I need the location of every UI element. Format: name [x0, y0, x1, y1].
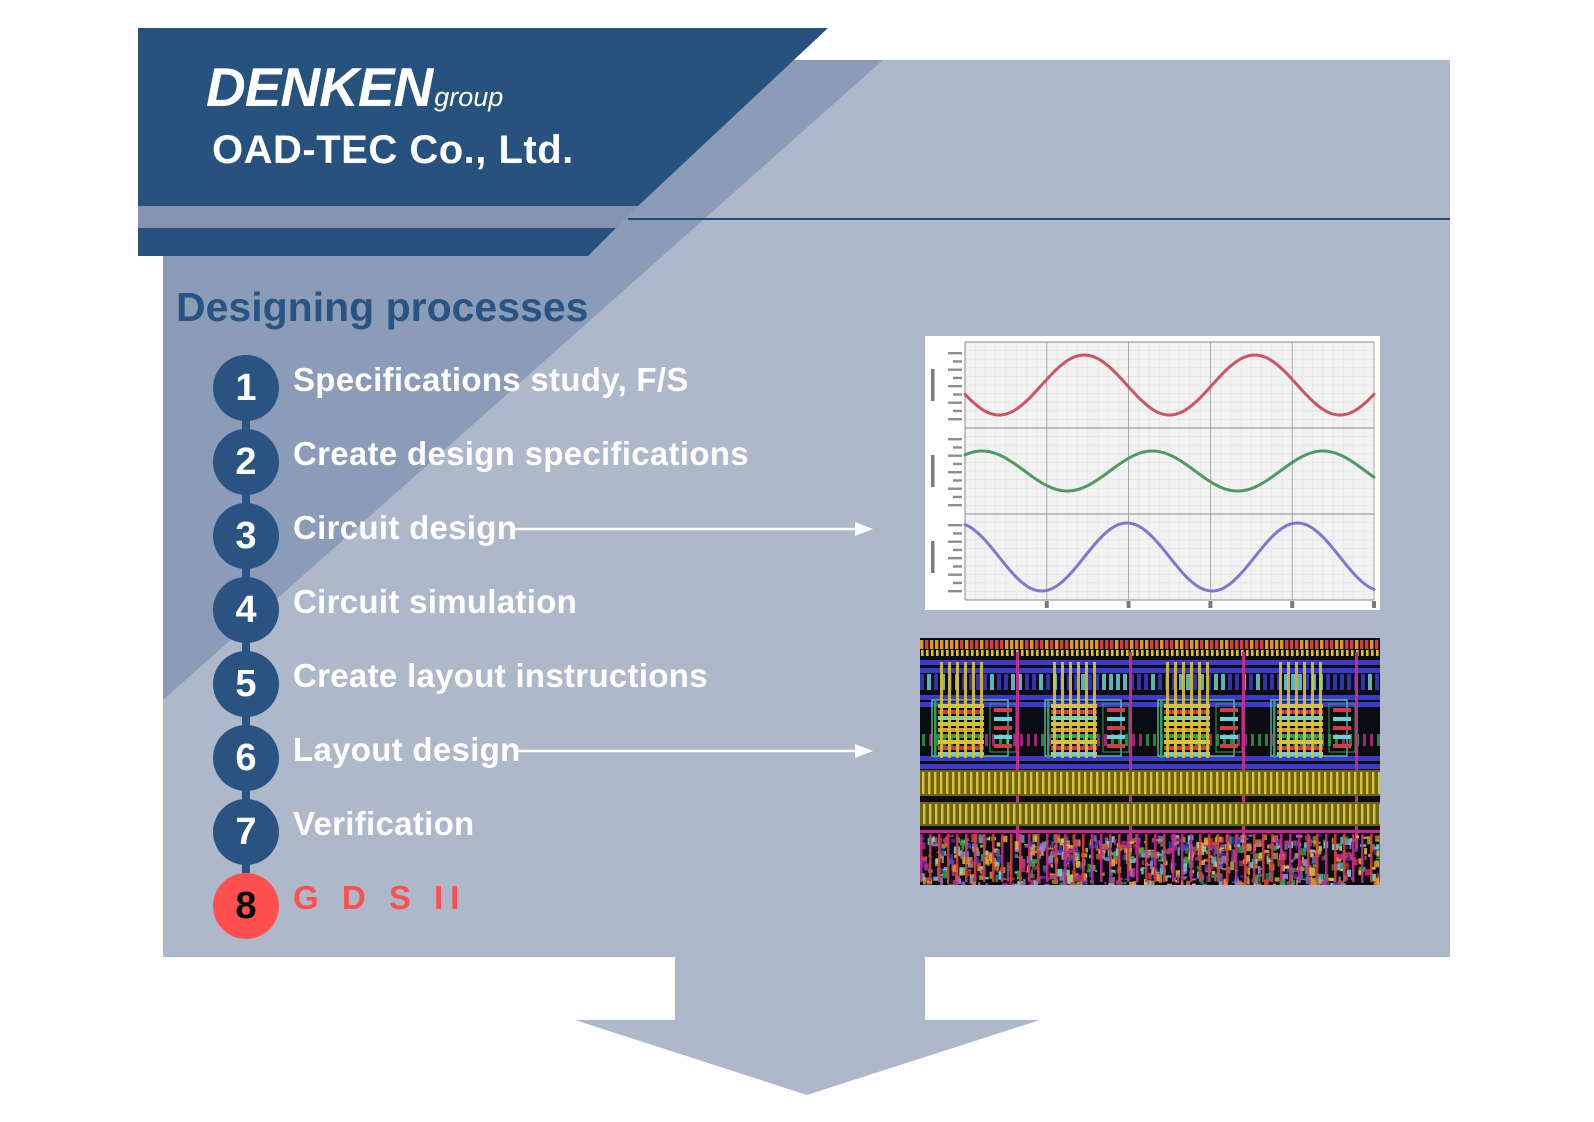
process-down-arrow: [575, 950, 1040, 1095]
step-number-badge: 2: [213, 429, 279, 495]
step-number-badge: 5: [213, 651, 279, 717]
step-label: Circuit design: [293, 509, 517, 547]
process-step[interactable]: 2 Create design specifications: [213, 429, 913, 503]
step-number-badge: 6: [213, 725, 279, 791]
header-divider-rule: [628, 218, 1450, 220]
waveform-figure: [925, 336, 1380, 610]
step-label: Specifications study, F/S: [293, 361, 689, 399]
pointer-arrow-to-layout: [518, 744, 873, 758]
step-label: Layout design: [293, 731, 521, 769]
process-step[interactable]: 7 Verification: [213, 799, 913, 873]
process-step[interactable]: 4 Circuit simulation: [213, 577, 913, 651]
step-label: Create design specifications: [293, 435, 749, 473]
layout-figure: [920, 638, 1380, 885]
step-label-gdsii: G D S II: [293, 879, 466, 917]
step-number-badge: 7: [213, 799, 279, 865]
process-step[interactable]: 8 G D S II: [213, 873, 913, 947]
process-step-list: 1 Specifications study, F/S 2 Create des…: [213, 355, 913, 947]
slide-root: DENKENgroup OAD-TEC Co., Ltd. Designing …: [0, 0, 1594, 1122]
page-title: Designing processes: [176, 284, 588, 331]
header-banner: [138, 28, 838, 278]
process-step[interactable]: 3 Circuit design: [213, 503, 913, 577]
step-label: Verification: [293, 805, 475, 843]
process-step[interactable]: 1 Specifications study, F/S: [213, 355, 913, 429]
step-number-badge-highlight: 8: [213, 873, 279, 939]
step-number-badge: 4: [213, 577, 279, 643]
pointer-arrow-to-waveform: [513, 522, 873, 536]
step-label: Circuit simulation: [293, 583, 577, 621]
step-label: Create layout instructions: [293, 657, 708, 695]
step-number-badge: 1: [213, 355, 279, 421]
step-number-badge: 3: [213, 503, 279, 569]
process-step[interactable]: 5 Create layout instructions: [213, 651, 913, 725]
process-step[interactable]: 6 Layout design: [213, 725, 913, 799]
